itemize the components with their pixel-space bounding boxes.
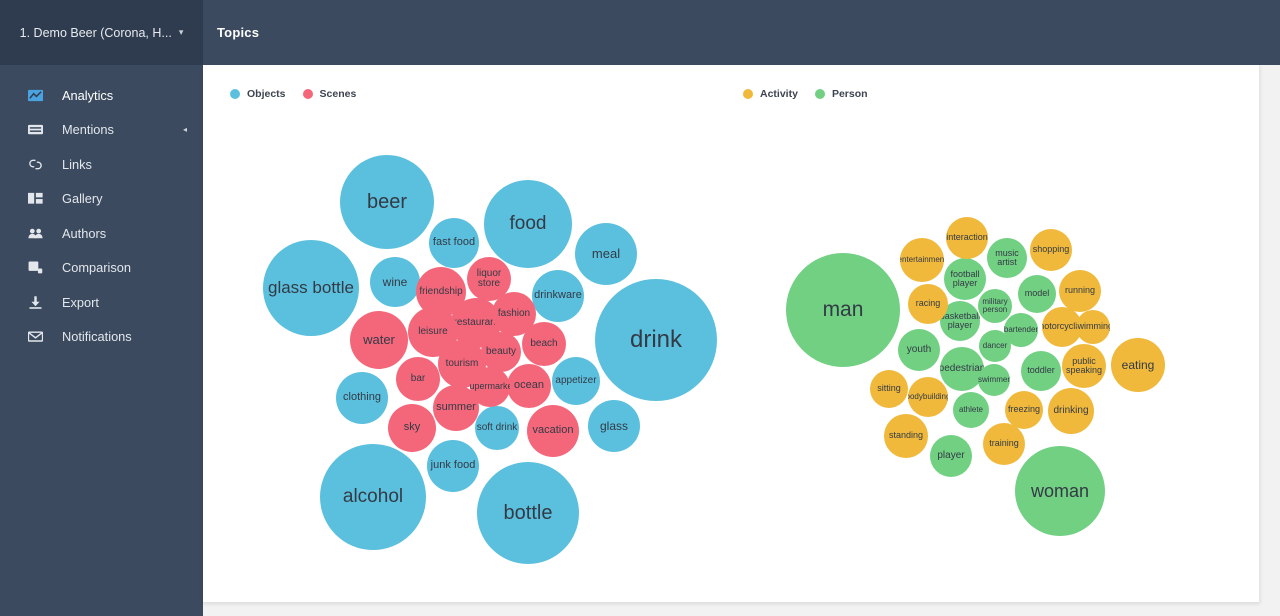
bubble-label: summer	[435, 402, 477, 413]
bubble-label: woman	[1030, 482, 1090, 500]
bubble-label: glass bottle	[267, 279, 355, 296]
sidebar-item-notifications[interactable]: Notifications	[0, 320, 203, 355]
bubble-fast-food[interactable]: fast food	[429, 218, 479, 268]
bubble-label: sky	[403, 422, 422, 433]
bubble-vacation[interactable]: vacation	[527, 405, 579, 457]
bubble-label: football player	[944, 270, 986, 288]
bubble-label: running	[1064, 286, 1096, 295]
bubble-swimmer[interactable]: swimmer	[978, 364, 1010, 396]
bubble-drinking[interactable]: drinking	[1048, 388, 1094, 434]
bubble-label: friendship	[418, 287, 463, 297]
bubble-man[interactable]: man	[786, 253, 900, 367]
bubble-beer[interactable]: beer	[340, 155, 434, 249]
project-selector-label: 1. Demo Beer (Corona, H...	[20, 26, 172, 40]
bubble-label: glass	[599, 420, 629, 432]
bubble-interaction[interactable]: interaction	[946, 217, 988, 259]
envelope-icon	[28, 329, 50, 344]
bubble-label: drinking	[1052, 406, 1089, 416]
bubble-food[interactable]: food	[484, 180, 572, 268]
sidebar-item-label: Export	[62, 295, 99, 310]
authors-people-icon	[28, 226, 50, 241]
bubble-label: swimmer	[978, 376, 1010, 384]
bubble-racing[interactable]: racing	[908, 284, 948, 324]
bubble-label: bottle	[503, 503, 554, 523]
bubble-label: water	[362, 333, 396, 346]
bubble-label: leisure	[417, 327, 448, 337]
bubble-label: swimming	[1076, 322, 1110, 331]
sidebar-item-label: Notifications	[62, 329, 132, 344]
bubble-label: bartender	[1004, 326, 1038, 334]
bubble-junk-food[interactable]: junk food	[427, 440, 479, 492]
bubble-label: man	[822, 299, 865, 320]
bubble-label: model	[1024, 289, 1051, 298]
bubble-label: pedestrian	[940, 364, 984, 374]
download-icon	[28, 295, 50, 310]
bubble-label: basketball player	[940, 312, 980, 330]
bubble-label: vacation	[532, 425, 575, 436]
bubble-water[interactable]: water	[350, 311, 408, 369]
bubble-model[interactable]: model	[1018, 275, 1056, 313]
app-window: 1. Demo Beer (Corona, H... ▾ AnalyticsMe…	[0, 0, 1280, 616]
gallery-grid-icon	[28, 191, 50, 206]
bubble-label: eating	[1121, 359, 1156, 371]
sidebar-item-label: Analytics	[62, 88, 113, 103]
chevron-down-icon: ▾	[179, 27, 184, 38]
bubble-swimming[interactable]: swimming	[1076, 310, 1110, 344]
sidebar-item-label: Comparison	[62, 260, 131, 275]
bubble-label: supermarket	[470, 382, 510, 391]
sidebar-item-analytics[interactable]: Analytics	[0, 78, 203, 113]
bubble-beauty[interactable]: beauty	[481, 332, 521, 372]
bubble-label: interaction	[946, 233, 988, 242]
sidebar: 1. Demo Beer (Corona, H... ▾ AnalyticsMe…	[0, 0, 203, 616]
analytics-chart-icon	[28, 88, 50, 103]
bubble-label: clothing	[342, 392, 382, 403]
bubble-clothing[interactable]: clothing	[336, 372, 388, 424]
bubble-ocean[interactable]: ocean	[507, 364, 551, 408]
sidebar-item-label: Mentions	[62, 122, 114, 137]
bubble-label: beer	[366, 192, 408, 212]
bubble-label: bodybuilding	[908, 393, 948, 401]
bubble-label: public speaking	[1062, 357, 1106, 375]
bubble-label: ocean	[513, 380, 545, 391]
bubble-label: entertainment	[900, 256, 944, 264]
bubble-label: shopping	[1032, 245, 1071, 254]
bubble-label: youth	[906, 345, 932, 355]
bubble-label: meal	[591, 247, 621, 260]
bubble-shopping[interactable]: shopping	[1030, 229, 1072, 271]
bubble-sitting[interactable]: sitting	[870, 370, 908, 408]
bubble-label: player	[936, 451, 965, 461]
bubble-glass[interactable]: glass	[588, 400, 640, 452]
bubble-label: fashion	[497, 309, 531, 319]
bubble-wine[interactable]: wine	[370, 257, 420, 307]
sidebar-item-links[interactable]: Links	[0, 147, 203, 182]
bubble-beach[interactable]: beach	[522, 322, 566, 366]
bubble-eating[interactable]: eating	[1111, 338, 1165, 392]
bubble-label: beauty	[485, 347, 517, 357]
collapse-arrow-icon[interactable]: ◂	[183, 125, 187, 134]
bubble-label: racing	[915, 299, 942, 308]
sidebar-item-label: Authors	[62, 226, 106, 241]
bubble-label: training	[988, 439, 1020, 448]
comparison-copy-icon	[28, 260, 50, 275]
bubble-label: drinkware	[533, 290, 583, 301]
bubble-chart-plot: beerglass bottlefooddrinkmealalcoholbott…	[203, 65, 1259, 602]
bubble-label: dancer	[982, 342, 1008, 350]
topbar: Topics	[203, 0, 1280, 65]
sidebar-item-mentions[interactable]: Mentions◂	[0, 113, 203, 148]
bubble-label: military person	[978, 298, 1012, 314]
bubble-music-artist[interactable]: music artist	[987, 238, 1027, 278]
bubble-athlete[interactable]: athlete	[953, 392, 989, 428]
bubble-label: standing	[888, 431, 924, 440]
bubble-alcohol[interactable]: alcohol	[320, 444, 426, 550]
bubble-youth[interactable]: youth	[898, 329, 940, 371]
bubble-label: junk food	[430, 460, 477, 471]
bubble-standing[interactable]: standing	[884, 414, 928, 458]
bubble-drinkware[interactable]: drinkware	[532, 270, 584, 322]
bubble-bodybuilding[interactable]: bodybuilding	[908, 377, 948, 417]
sidebar-item-export[interactable]: Export	[0, 285, 203, 320]
bubble-label: freezing	[1007, 405, 1041, 414]
sidebar-item-label: Gallery	[62, 191, 103, 206]
bubble-label: wine	[382, 276, 409, 288]
bubble-training[interactable]: training	[983, 423, 1025, 465]
sidebar-item-gallery[interactable]: Gallery	[0, 182, 203, 217]
bubble-military-person[interactable]: military person	[978, 289, 1012, 323]
bubble-freezing[interactable]: freezing	[1005, 391, 1043, 429]
bubble-player[interactable]: player	[930, 435, 972, 477]
mentions-card-icon	[28, 122, 50, 137]
bubble-supermarket[interactable]: supermarket	[470, 367, 510, 407]
bubble-bottle[interactable]: bottle	[477, 462, 579, 564]
bubble-label: sitting	[876, 384, 902, 393]
sidebar-item-authors[interactable]: Authors	[0, 216, 203, 251]
bubble-sky[interactable]: sky	[388, 404, 436, 452]
bubble-appetizer[interactable]: appetizer	[552, 357, 600, 405]
bubble-label: tourism	[445, 359, 480, 369]
bubble-bar[interactable]: bar	[396, 357, 440, 401]
sidebar-item-comparison[interactable]: Comparison	[0, 251, 203, 286]
bubble-label: fast food	[432, 237, 476, 248]
bubble-public-speaking[interactable]: public speaking	[1062, 344, 1106, 388]
bubble-meal[interactable]: meal	[575, 223, 637, 285]
bubble-entertainment[interactable]: entertainment	[900, 238, 944, 282]
bubble-label: beach	[529, 339, 558, 349]
topics-chart-card: ObjectsScenes ActivityPerson beerglass b…	[203, 65, 1260, 602]
bubble-woman[interactable]: woman	[1015, 446, 1105, 536]
bubble-label: music artist	[987, 249, 1027, 267]
bubble-label: liquor store	[467, 269, 511, 289]
sidebar-item-label: Links	[62, 157, 92, 172]
bubble-dancer[interactable]: dancer	[979, 330, 1011, 362]
bubble-label: soft drink	[476, 423, 519, 433]
bubble-label: athlete	[958, 406, 984, 414]
bubble-label: appetizer	[554, 376, 597, 386]
bubble-soft-drink[interactable]: soft drink	[475, 406, 519, 450]
bubble-running[interactable]: running	[1059, 270, 1101, 312]
bubble-pedestrian[interactable]: pedestrian	[940, 347, 984, 391]
bubble-glass-bottle[interactable]: glass bottle	[263, 240, 359, 336]
bubble-football-player[interactable]: football player	[944, 258, 986, 300]
bubble-label: food	[509, 214, 548, 233]
link-icon	[28, 157, 50, 172]
page-title: Topics	[217, 25, 259, 40]
sidebar-nav: AnalyticsMentions◂LinksGalleryAuthorsCom…	[0, 65, 203, 354]
bubble-label: toddler	[1026, 366, 1056, 375]
bubble-drink[interactable]: drink	[595, 279, 717, 401]
bubble-label: drink	[629, 328, 683, 352]
bubble-label: alcohol	[342, 487, 404, 506]
bubble-label: bar	[410, 374, 426, 384]
bubble-toddler[interactable]: toddler	[1021, 351, 1061, 391]
project-selector-dropdown[interactable]: 1. Demo Beer (Corona, H... ▾	[0, 0, 203, 65]
